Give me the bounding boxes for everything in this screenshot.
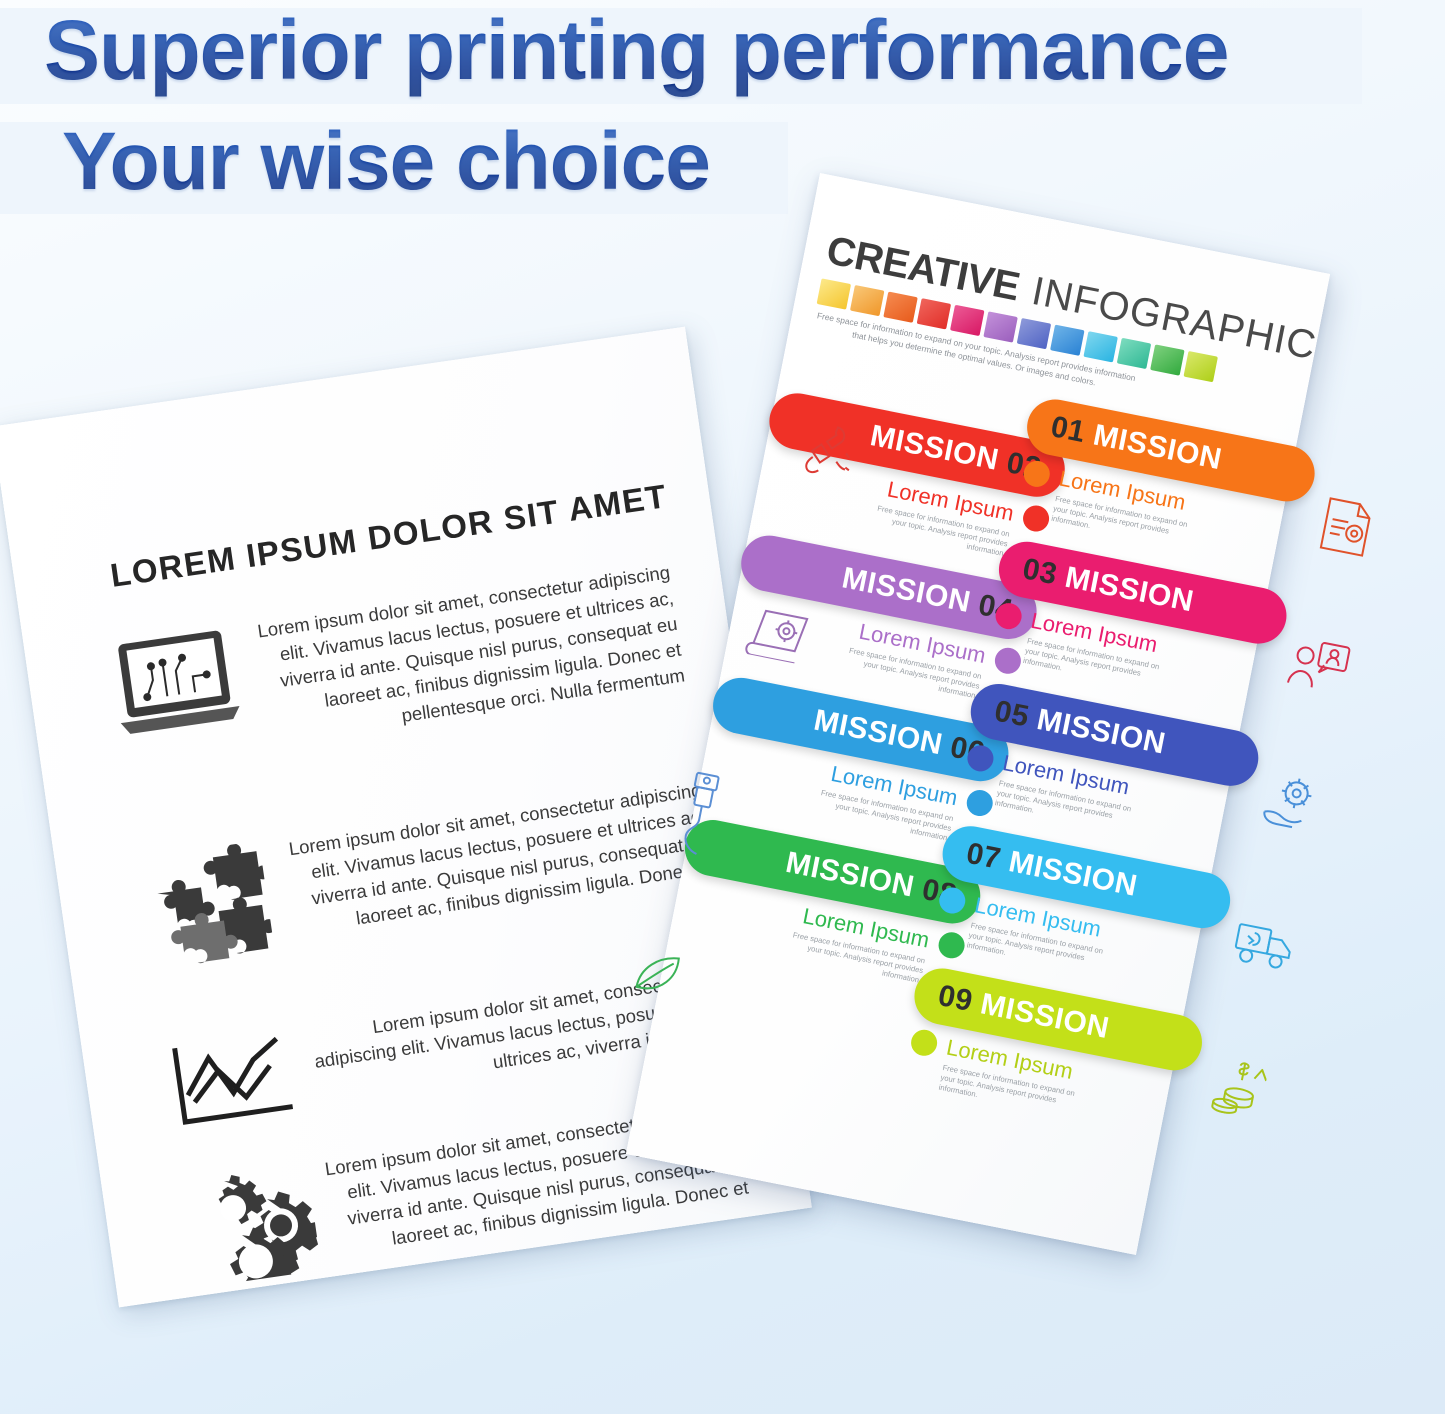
mission-word: MISSION bbox=[783, 846, 917, 905]
gears-icon bbox=[171, 1157, 335, 1289]
mission-word: MISSION bbox=[978, 987, 1112, 1046]
right-infographic-page: CREATIVEINFOGRAPHIC Free space for infor… bbox=[626, 173, 1330, 1255]
swatch bbox=[1017, 318, 1051, 349]
list-item-text: Lorem ipsum dolor sit amet, consectetur … bbox=[274, 777, 714, 941]
mission-word: MISSION bbox=[867, 419, 1001, 478]
blueprint-gear-icon bbox=[742, 598, 819, 671]
service-truck-icon bbox=[1227, 913, 1301, 981]
hand-gear-icon bbox=[1255, 767, 1328, 841]
headline-line-1: Superior printing performance bbox=[44, 2, 1229, 98]
swatch bbox=[883, 292, 917, 323]
swatch bbox=[1183, 351, 1217, 382]
mission-word: MISSION bbox=[1006, 845, 1140, 904]
mission-word: MISSION bbox=[839, 561, 973, 620]
mission-item[interactable]: 09 MISSION Lorem Ipsum Free space for in… bbox=[897, 964, 1207, 1141]
mission-item[interactable]: 05 MISSION Lorem Ipsum Free space for in… bbox=[953, 679, 1263, 856]
headline-banner: Superior printing performance Your wise … bbox=[0, 0, 1445, 230]
swatch bbox=[1150, 344, 1184, 375]
swatch bbox=[1050, 325, 1084, 356]
money-coins-icon bbox=[1201, 1048, 1271, 1125]
mission-item[interactable]: 07 MISSION Lorem Ipsum Free space for in… bbox=[925, 821, 1235, 998]
mission-item[interactable]: 03 MISSION Lorem Ipsum Free space for in… bbox=[981, 537, 1291, 714]
swatch bbox=[983, 311, 1017, 342]
status-dot bbox=[965, 743, 996, 774]
mission-number: 07 bbox=[963, 837, 1003, 877]
mission-number: 01 bbox=[1048, 410, 1088, 450]
status-dot bbox=[909, 1028, 940, 1059]
line-chart-icon bbox=[152, 1025, 314, 1137]
list-item: Lorem ipsum dolor sit amet, consectetur … bbox=[94, 555, 716, 771]
mission-word: MISSION bbox=[1090, 418, 1224, 477]
status-dot bbox=[937, 885, 968, 916]
mission-word: MISSION bbox=[1034, 703, 1168, 762]
video-person-icon bbox=[1282, 633, 1355, 707]
infographic-header: CREATIVEINFOGRAPHIC Free space for infor… bbox=[811, 228, 1302, 425]
puzzle-pieces-icon bbox=[125, 839, 290, 977]
swatch bbox=[950, 305, 984, 336]
status-dot bbox=[993, 601, 1024, 632]
mission-number: 05 bbox=[992, 695, 1032, 735]
swatch bbox=[1083, 331, 1117, 362]
status-dot bbox=[1021, 459, 1052, 490]
swatch bbox=[917, 298, 951, 329]
leaf-icon bbox=[626, 942, 688, 1008]
headline-line-2: Your wise choice bbox=[62, 114, 710, 210]
mission-number: 03 bbox=[1020, 552, 1060, 592]
swatch bbox=[817, 278, 851, 309]
mission-word: MISSION bbox=[811, 704, 945, 763]
laptop-circuit-icon bbox=[94, 621, 257, 745]
mission-word: MISSION bbox=[1062, 561, 1196, 620]
mission-number: 09 bbox=[935, 979, 975, 1019]
swatch bbox=[1117, 338, 1151, 369]
swatch bbox=[850, 285, 884, 316]
list-item-text: Lorem ipsum dolor sit amet, consectetur … bbox=[242, 559, 686, 749]
document-gear-icon bbox=[1311, 491, 1381, 568]
hand-wrench-icon bbox=[794, 415, 868, 493]
